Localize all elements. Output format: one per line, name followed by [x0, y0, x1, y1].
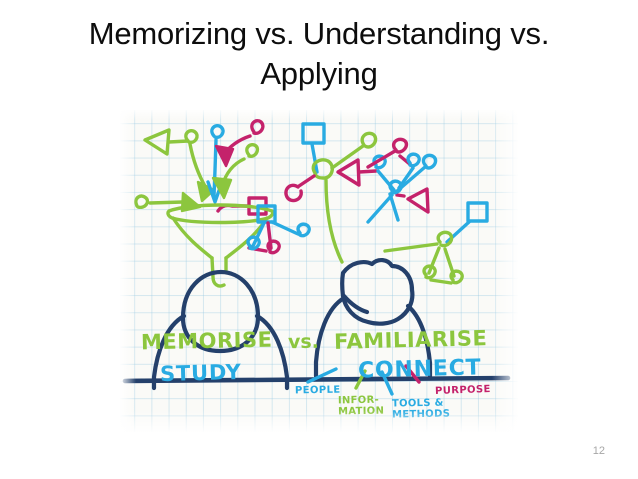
callout-information-line1: INFOR-: [338, 395, 379, 407]
page-number: 12: [593, 445, 605, 457]
callout-information: INFOR- MATION: [338, 395, 385, 418]
left-heading: MEMORISE: [141, 328, 273, 355]
page-title: Memorizing vs. Understanding vs. Applyin…: [48, 14, 590, 94]
callout-people: PEOPLE: [295, 385, 341, 397]
separator-word: vs.: [288, 331, 319, 354]
slide: Memorizing vs. Understanding vs. Applyin…: [0, 0, 638, 479]
callout-tools-line1: TOOLS &: [392, 398, 444, 410]
callout-information-line2: MATION: [338, 406, 384, 418]
callout-tools-line2: METHODS: [392, 408, 450, 420]
left-subheading: STUDY: [160, 360, 242, 386]
callout-tools-methods: TOOLS & METHODS: [392, 397, 450, 420]
sketch-figure: .g { stroke:#8cc63e; fill:none; stroke-w…: [120, 110, 518, 432]
sketch-text-layer: MEMORISE vs. FAMILIARISE STUDY CONNECT P…: [120, 110, 518, 432]
right-subheading: CONNECT: [358, 355, 482, 383]
callout-purpose: PURPOSE: [435, 384, 491, 397]
right-heading: FAMILIARISE: [334, 326, 488, 354]
